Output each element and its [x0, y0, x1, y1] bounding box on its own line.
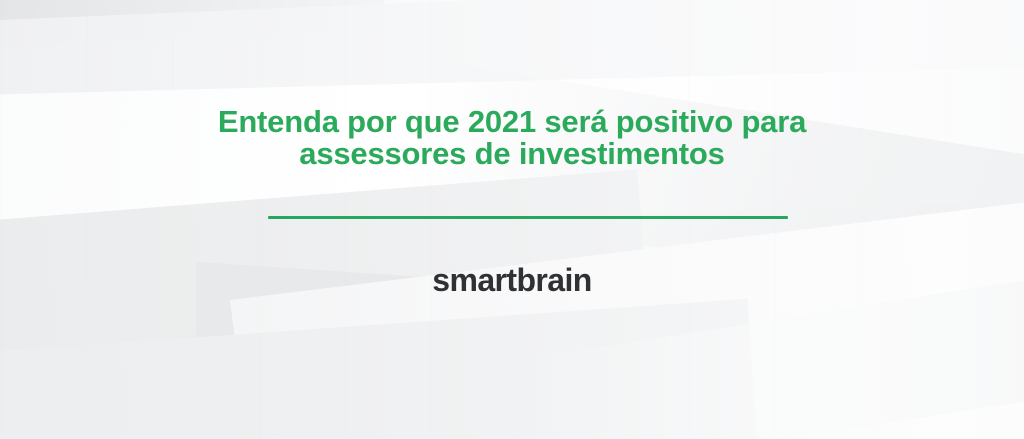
- promo-banner: Entenda por que 2021 será positivo para …: [0, 0, 1024, 439]
- green-divider-rule: [268, 216, 788, 219]
- banner-content: Entenda por que 2021 será positivo para …: [0, 0, 1024, 439]
- banner-headline: Entenda por que 2021 será positivo para …: [0, 106, 1024, 170]
- smartbrain-logo: smartbrain: [0, 262, 1024, 299]
